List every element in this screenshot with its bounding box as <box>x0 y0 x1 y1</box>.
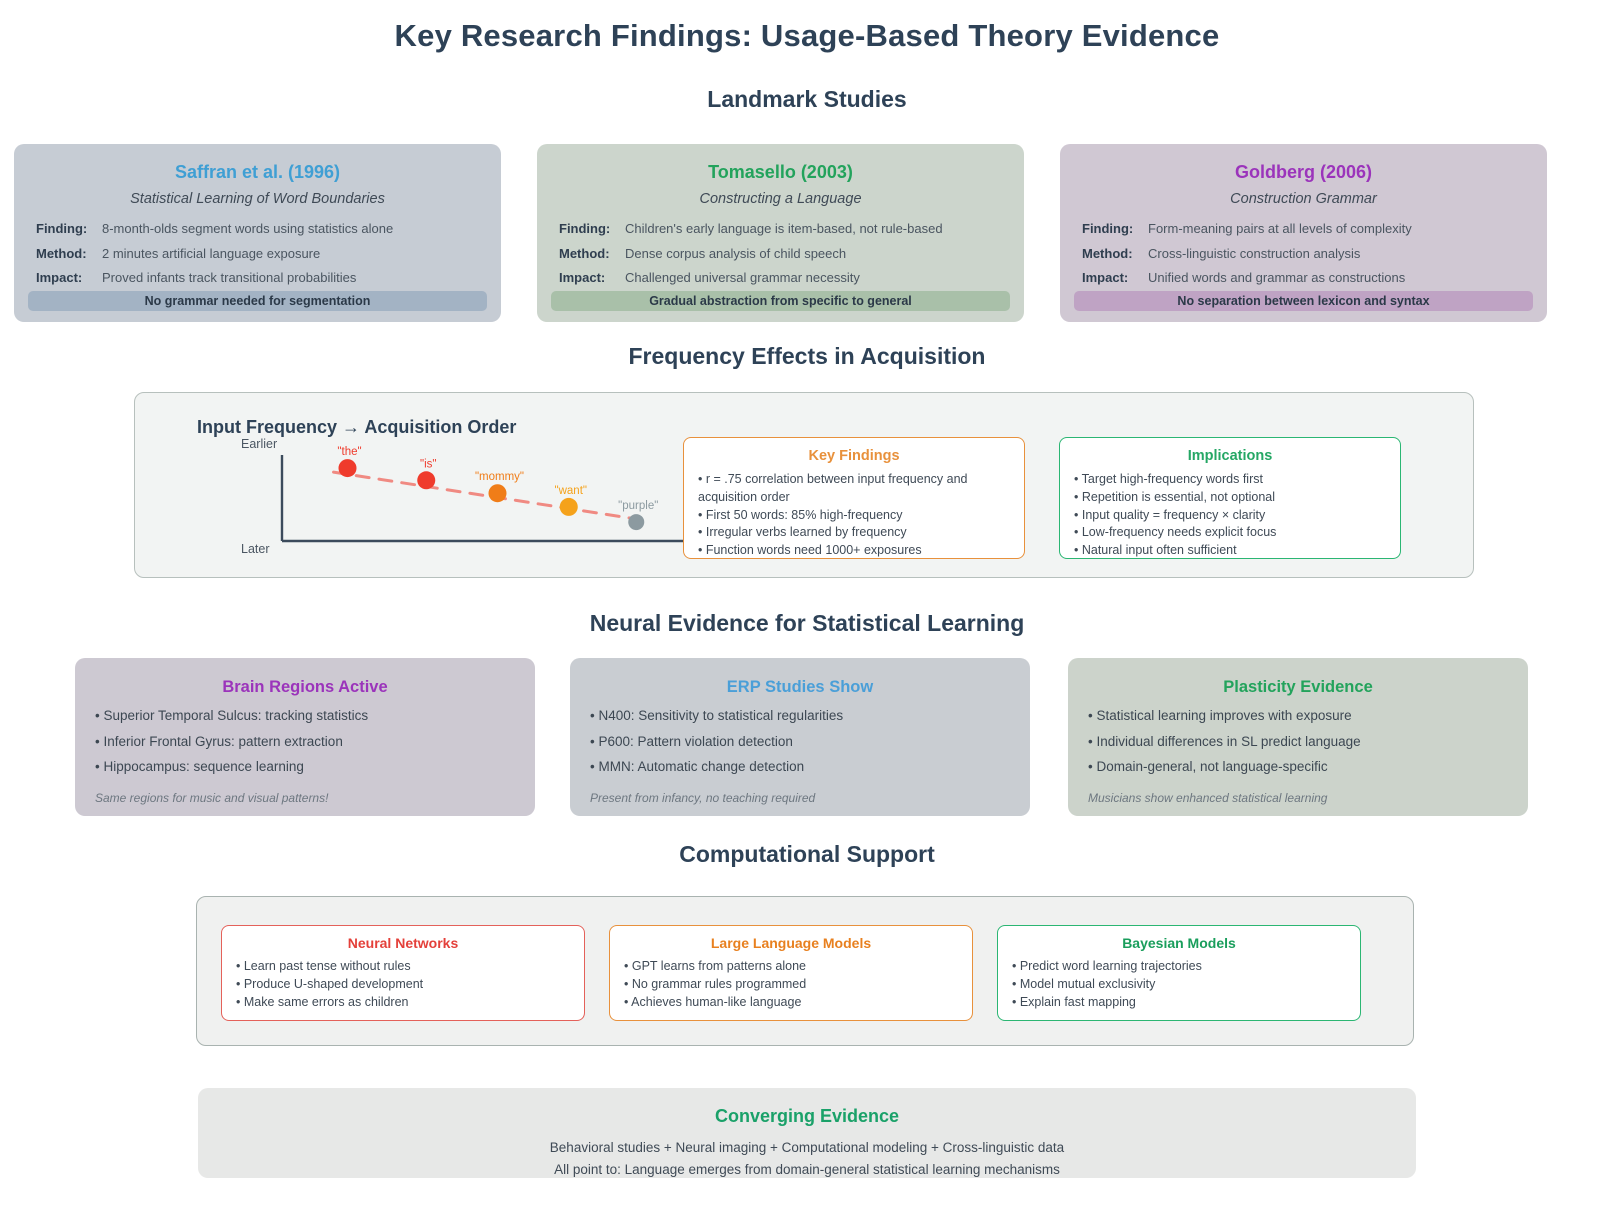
impact-value: Challenged universal grammar necessity <box>625 270 860 286</box>
list-item: • Target high-frequency words first <box>1074 471 1386 489</box>
comp-card-bayesian-models: Bayesian Models • Predict word learning … <box>997 925 1361 1021</box>
scatter-point <box>628 514 644 530</box>
list-item: • Achieves human-like language <box>624 993 958 1011</box>
finding-label: Finding: <box>559 221 625 237</box>
impact-label: Impact: <box>559 270 625 286</box>
list-item: • Input quality = frequency × clarity <box>1074 507 1386 525</box>
comp-card-list: • GPT learns from patterns alone• No gra… <box>624 957 958 1011</box>
study-banner: No grammar needed for segmentation <box>28 291 487 311</box>
computational-support-panel: Neural Networks • Learn past tense witho… <box>196 896 1414 1046</box>
list-item: • Model mutual exclusivity <box>1012 975 1346 993</box>
implications-title: Implications <box>1074 448 1386 464</box>
comp-card-title: Neural Networks <box>236 935 570 951</box>
neural-card-erp-studies: ERP Studies Show • N400: Sensitivity to … <box>570 658 1030 816</box>
page-title: Key Research Findings: Usage-Based Theor… <box>0 18 1614 54</box>
impact-value: Proved infants track transitional probab… <box>102 270 356 286</box>
list-item: • Individual differences in SL predict l… <box>1088 735 1508 749</box>
landmark-studies-row: Saffran et al. (1996) Statistical Learni… <box>0 144 1614 322</box>
section-heading-landmark: Landmark Studies <box>0 86 1614 113</box>
list-item: • Predict word learning trajectories <box>1012 957 1346 975</box>
finding-label: Finding: <box>36 221 102 237</box>
y-axis-tick-earlier: Earlier <box>241 437 277 451</box>
footer-title: Converging Evidence <box>198 1106 1416 1127</box>
implications-list: • Target high-frequency words first• Rep… <box>1074 471 1386 560</box>
scatter-point-label: "want" <box>555 485 587 497</box>
list-item: • Produce U-shaped development <box>236 975 570 993</box>
list-item: • Superior Temporal Sulcus: tracking sta… <box>95 709 515 723</box>
list-item: • MMN: Automatic change detection <box>590 760 1010 774</box>
study-subtitle: Statistical Learning of Word Boundaries <box>36 191 479 207</box>
study-card-saffran: Saffran et al. (1996) Statistical Learni… <box>14 144 501 322</box>
impact-label: Impact: <box>1082 270 1148 286</box>
study-banner: No separation between lexicon and syntax <box>1074 291 1533 311</box>
study-method-row: Method: 2 minutes artificial language ex… <box>36 246 479 262</box>
list-item: • Explain fast mapping <box>1012 993 1346 1011</box>
method-value: Cross-linguistic construction analysis <box>1148 246 1360 262</box>
scatter-point <box>489 484 507 502</box>
scatter-point <box>339 459 357 477</box>
list-item: • Hippocampus: sequence learning <box>95 760 515 774</box>
key-findings-box: Key Findings • r = .75 correlation betwe… <box>683 437 1025 559</box>
neural-card-note: Musicians show enhanced statistical lear… <box>1088 791 1327 805</box>
comp-card-title: Bayesian Models <box>1012 935 1346 951</box>
method-label: Method: <box>559 246 625 262</box>
list-item: • r = .75 correlation between input freq… <box>698 471 1010 507</box>
infographic-page: Key Research Findings: Usage-Based Theor… <box>0 0 1614 1218</box>
study-card-tomasello: Tomasello (2003) Constructing a Language… <box>537 144 1024 322</box>
section-heading-neural: Neural Evidence for Statistical Learning <box>0 610 1614 637</box>
method-label: Method: <box>1082 246 1148 262</box>
finding-label: Finding: <box>1082 221 1148 237</box>
scatter-point-label: "is" <box>420 458 436 470</box>
list-item: • Low-frequency needs explicit focus <box>1074 524 1386 542</box>
list-item: • Learn past tense without rules <box>236 957 570 975</box>
method-label: Method: <box>36 246 102 262</box>
study-card-goldberg: Goldberg (2006) Construction Grammar Fin… <box>1060 144 1547 322</box>
list-item: • Function words need 1000+ exposures <box>698 542 1010 560</box>
study-finding-row: Finding: Form-meaning pairs at all level… <box>1082 221 1525 237</box>
study-name: Saffran et al. (1996) <box>36 162 479 183</box>
y-axis-tick-later: Later <box>241 542 270 556</box>
scatter-point-label: "mommy" <box>475 471 524 483</box>
list-item: • Statistical learning improves with exp… <box>1088 709 1508 723</box>
list-item: • N400: Sensitivity to statistical regul… <box>590 709 1010 723</box>
footer-line-2: All point to: Language emerges from doma… <box>198 1159 1416 1181</box>
comp-card-title: Large Language Models <box>624 935 958 951</box>
study-name: Tomasello (2003) <box>559 162 1002 183</box>
neural-card-brain-regions: Brain Regions Active • Superior Temporal… <box>75 658 535 816</box>
frequency-scatter-plot: Earlier Later Frequency "the""is""mommy"… <box>195 437 735 559</box>
finding-value: 8-month-olds segment words using statist… <box>102 221 393 237</box>
list-item: • Natural input often sufficient <box>1074 542 1386 560</box>
neural-card-title: Brain Regions Active <box>95 678 515 697</box>
scatter-point <box>417 471 435 489</box>
neural-card-plasticity: Plasticity Evidence • Statistical learni… <box>1068 658 1528 816</box>
list-item: • Domain-general, not language-specific <box>1088 760 1508 774</box>
chart-title: Input Frequency → Acquisition Order <box>197 417 516 438</box>
comp-card-list: • Learn past tense without rules• Produc… <box>236 957 570 1011</box>
key-findings-title: Key Findings <box>698 448 1010 464</box>
study-subtitle: Construction Grammar <box>1082 191 1525 207</box>
list-item: • Inferior Frontal Gyrus: pattern extrac… <box>95 735 515 749</box>
list-item: • No grammar rules programmed <box>624 975 958 993</box>
comp-card-neural-networks: Neural Networks • Learn past tense witho… <box>221 925 585 1021</box>
list-item: • First 50 words: 85% high-frequency <box>698 507 1010 525</box>
footer-line-1: Behavioral studies + Neural imaging + Co… <box>198 1137 1416 1159</box>
scatter-svg: "the""is""mommy""want""purple" <box>195 437 735 559</box>
neural-card-note: Same regions for music and visual patter… <box>95 791 328 805</box>
study-name: Goldberg (2006) <box>1082 162 1525 183</box>
list-item: • Repetition is essential, not optional <box>1074 489 1386 507</box>
neural-card-title: Plasticity Evidence <box>1088 678 1508 697</box>
method-value: 2 minutes artificial language exposure <box>102 246 320 262</box>
neural-card-list: • Superior Temporal Sulcus: tracking sta… <box>95 709 515 774</box>
study-finding-row: Finding: 8-month-olds segment words usin… <box>36 221 479 237</box>
study-impact-row: Impact: Proved infants track transitiona… <box>36 270 479 286</box>
converging-evidence-footer: Converging Evidence Behavioral studies +… <box>198 1088 1416 1178</box>
study-subtitle: Constructing a Language <box>559 191 1002 207</box>
scatter-point-label: "purple" <box>618 500 658 512</box>
comp-card-large-language-models: Large Language Models • GPT learns from … <box>609 925 973 1021</box>
method-value: Dense corpus analysis of child speech <box>625 246 846 262</box>
implications-box: Implications • Target high-frequency wor… <box>1059 437 1401 559</box>
key-findings-list: • r = .75 correlation between input freq… <box>698 471 1010 560</box>
finding-value: Form-meaning pairs at all levels of comp… <box>1148 221 1412 237</box>
neural-card-note: Present from infancy, no teaching requir… <box>590 791 815 805</box>
study-finding-row: Finding: Children's early language is it… <box>559 221 1002 237</box>
neural-card-list: • Statistical learning improves with exp… <box>1088 709 1508 774</box>
study-banner: Gradual abstraction from specific to gen… <box>551 291 1010 311</box>
scatter-point-label: "the" <box>337 446 361 458</box>
study-impact-row: Impact: Unified words and grammar as con… <box>1082 270 1525 286</box>
study-method-row: Method: Cross-linguistic construction an… <box>1082 246 1525 262</box>
list-item: • Make same errors as children <box>236 993 570 1011</box>
scatter-point <box>560 498 578 516</box>
neural-card-list: • N400: Sensitivity to statistical regul… <box>590 709 1010 774</box>
impact-value: Unified words and grammar as constructio… <box>1148 270 1405 286</box>
neural-card-title: ERP Studies Show <box>590 678 1010 697</box>
frequency-effects-panel: Input Frequency → Acquisition Order Earl… <box>134 392 1474 578</box>
finding-value: Children's early language is item-based,… <box>625 221 943 237</box>
study-impact-row: Impact: Challenged universal grammar nec… <box>559 270 1002 286</box>
section-heading-frequency: Frequency Effects in Acquisition <box>0 343 1614 370</box>
section-heading-computational: Computational Support <box>0 841 1614 868</box>
impact-label: Impact: <box>36 270 102 286</box>
list-item: • P600: Pattern violation detection <box>590 735 1010 749</box>
list-item: • GPT learns from patterns alone <box>624 957 958 975</box>
study-method-row: Method: Dense corpus analysis of child s… <box>559 246 1002 262</box>
list-item: • Irregular verbs learned by frequency <box>698 524 1010 542</box>
comp-card-list: • Predict word learning trajectories• Mo… <box>1012 957 1346 1011</box>
neural-evidence-row: Brain Regions Active • Superior Temporal… <box>0 658 1614 816</box>
